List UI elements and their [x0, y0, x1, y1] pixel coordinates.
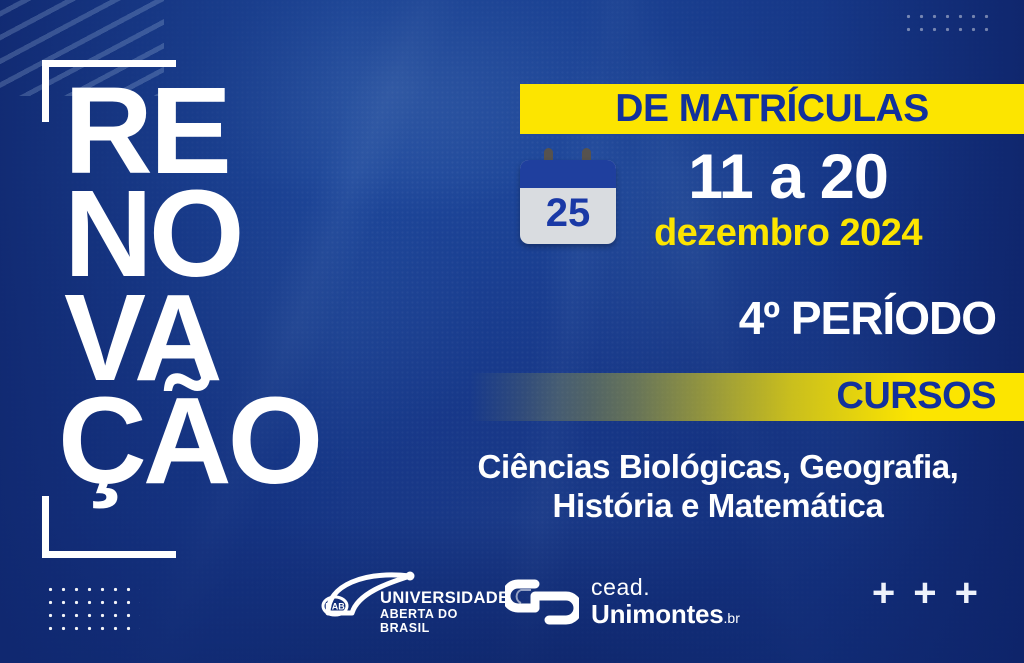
plus-icon-3: +: [955, 573, 978, 613]
calendar-header-band: [520, 160, 616, 188]
cead-logo-unimontes: Unimontes: [591, 599, 724, 629]
courses-list: Ciências Biológicas, Geografia, História…: [440, 448, 996, 526]
page-title: RE NO VA ÇÃO: [64, 80, 319, 493]
courses-band: CURSOS: [470, 373, 1024, 421]
uab-logo-line-2: ABERTA DO BRASIL: [380, 607, 510, 635]
enrollment-band: DE MATRÍCULAS: [520, 84, 1024, 134]
courses-line-1: Ciências Biológicas, Geografia,: [440, 448, 996, 487]
cead-mark-icon: [505, 578, 579, 626]
dot-grid-bottom-left: [42, 581, 140, 637]
headline-line-4: ÇÃO: [58, 390, 319, 493]
calendar-body: 25: [520, 160, 616, 244]
calendar-icon: 25: [520, 148, 616, 244]
period-label: 4º PERÍODO: [440, 295, 996, 341]
enrollment-renewal-banner: + + + RE NO VA ÇÃO DE MATRÍCULAS 25 11 a…: [0, 0, 1024, 663]
cead-logo-suffix: .br: [724, 610, 740, 626]
plus-icon-2: +: [913, 573, 936, 613]
cead-logo-line-1: cead.: [591, 576, 740, 599]
calendar-day-number: 25: [520, 185, 616, 241]
uab-logo: UAB UNIVERSIDADE ABERTA DO BRASIL: [318, 569, 480, 635]
cead-logo-text: cead. Unimontes.br: [591, 576, 740, 629]
plus-marks-decoration: + + +: [872, 575, 978, 615]
date-range: 11 a 20: [640, 146, 936, 209]
plus-icon-1: +: [872, 573, 895, 613]
courses-line-2: História e Matemática: [440, 487, 996, 526]
uab-logo-line-1: UNIVERSIDADE: [380, 589, 510, 607]
svg-text:UAB: UAB: [325, 602, 345, 612]
courses-band-label: CURSOS: [836, 377, 1024, 415]
uab-logo-text: UNIVERSIDADE ABERTA DO BRASIL: [380, 589, 510, 635]
dot-grid-top-right: [900, 8, 996, 38]
cead-unimontes-logo: cead. Unimontes.br: [505, 571, 720, 633]
date-month-year: dezembro 2024: [640, 214, 936, 252]
headline-block: RE NO VA ÇÃO: [42, 60, 382, 558]
cead-logo-line-2: Unimontes.br: [591, 601, 740, 627]
enrollment-band-label: DE MATRÍCULAS: [615, 89, 928, 128]
